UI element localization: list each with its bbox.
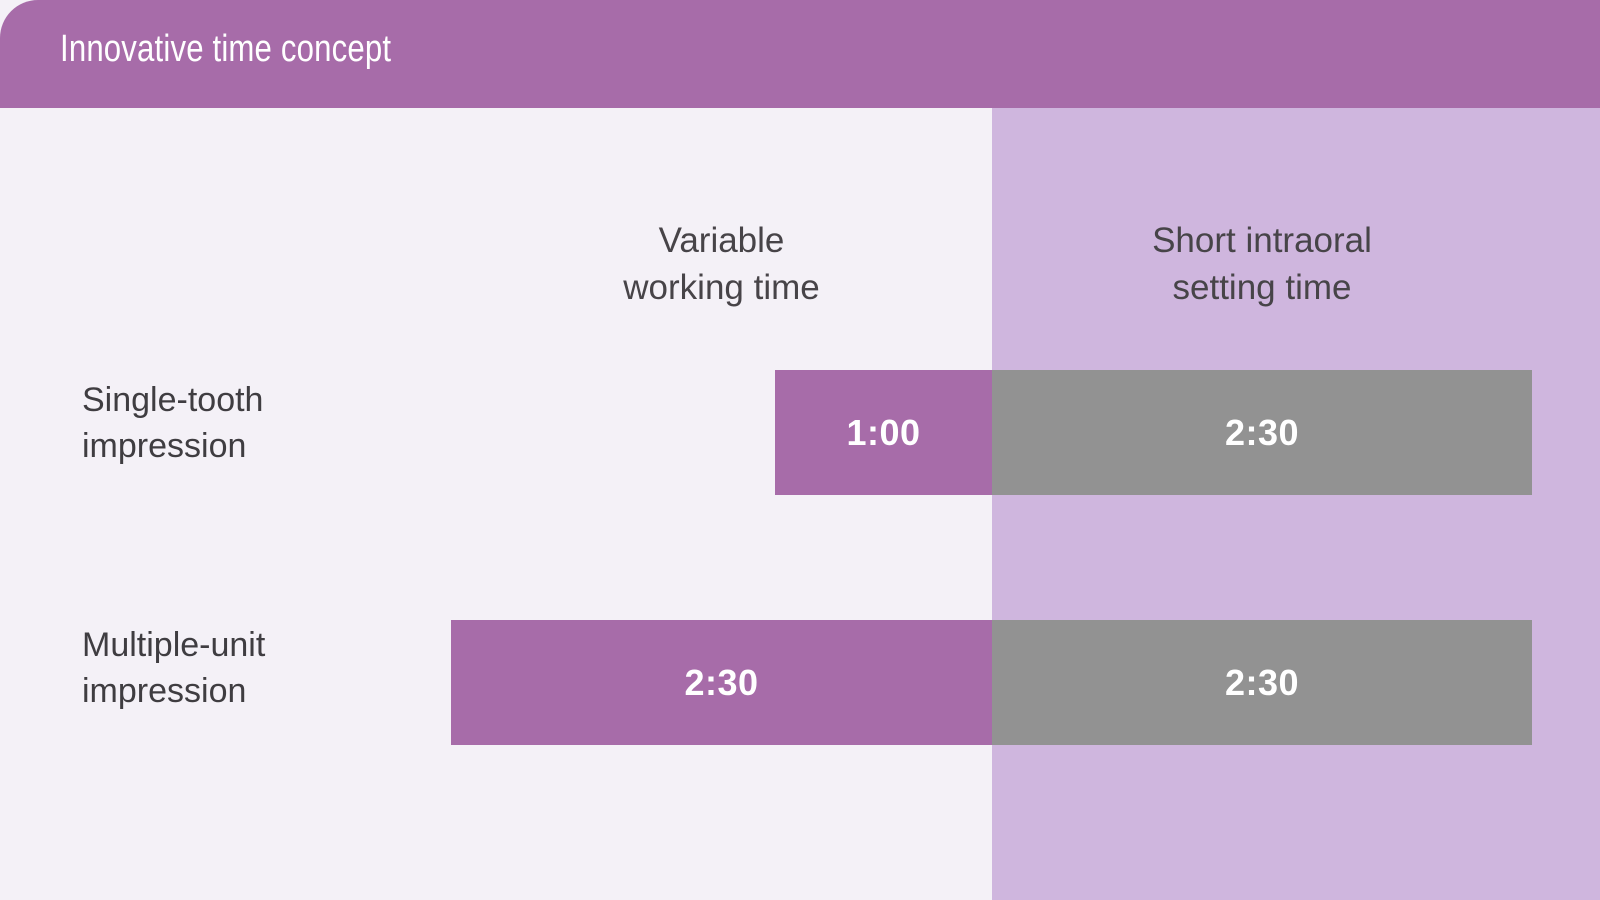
bar-single-tooth-working-time: 1:00 xyxy=(775,370,992,495)
row-label-multiple-unit: Multiple-unit impression xyxy=(82,623,422,715)
bar-multiple-unit-setting-time: 2:30 xyxy=(992,620,1532,745)
column-header-working-time: Variable working time xyxy=(451,218,992,311)
column-header-setting-time: Short intraoral setting time xyxy=(992,218,1532,311)
header-band: Innovative time concept xyxy=(0,0,1600,108)
innovative-time-concept-infographic: Innovative time concept Variable working… xyxy=(0,0,1600,900)
page-title: Innovative time concept xyxy=(60,28,391,71)
bar-multiple-unit-working-time: 2:30 xyxy=(451,620,992,745)
row-label-single-tooth: Single-tooth impression xyxy=(82,378,422,470)
bar-single-tooth-setting-time: 2:30 xyxy=(992,370,1532,495)
